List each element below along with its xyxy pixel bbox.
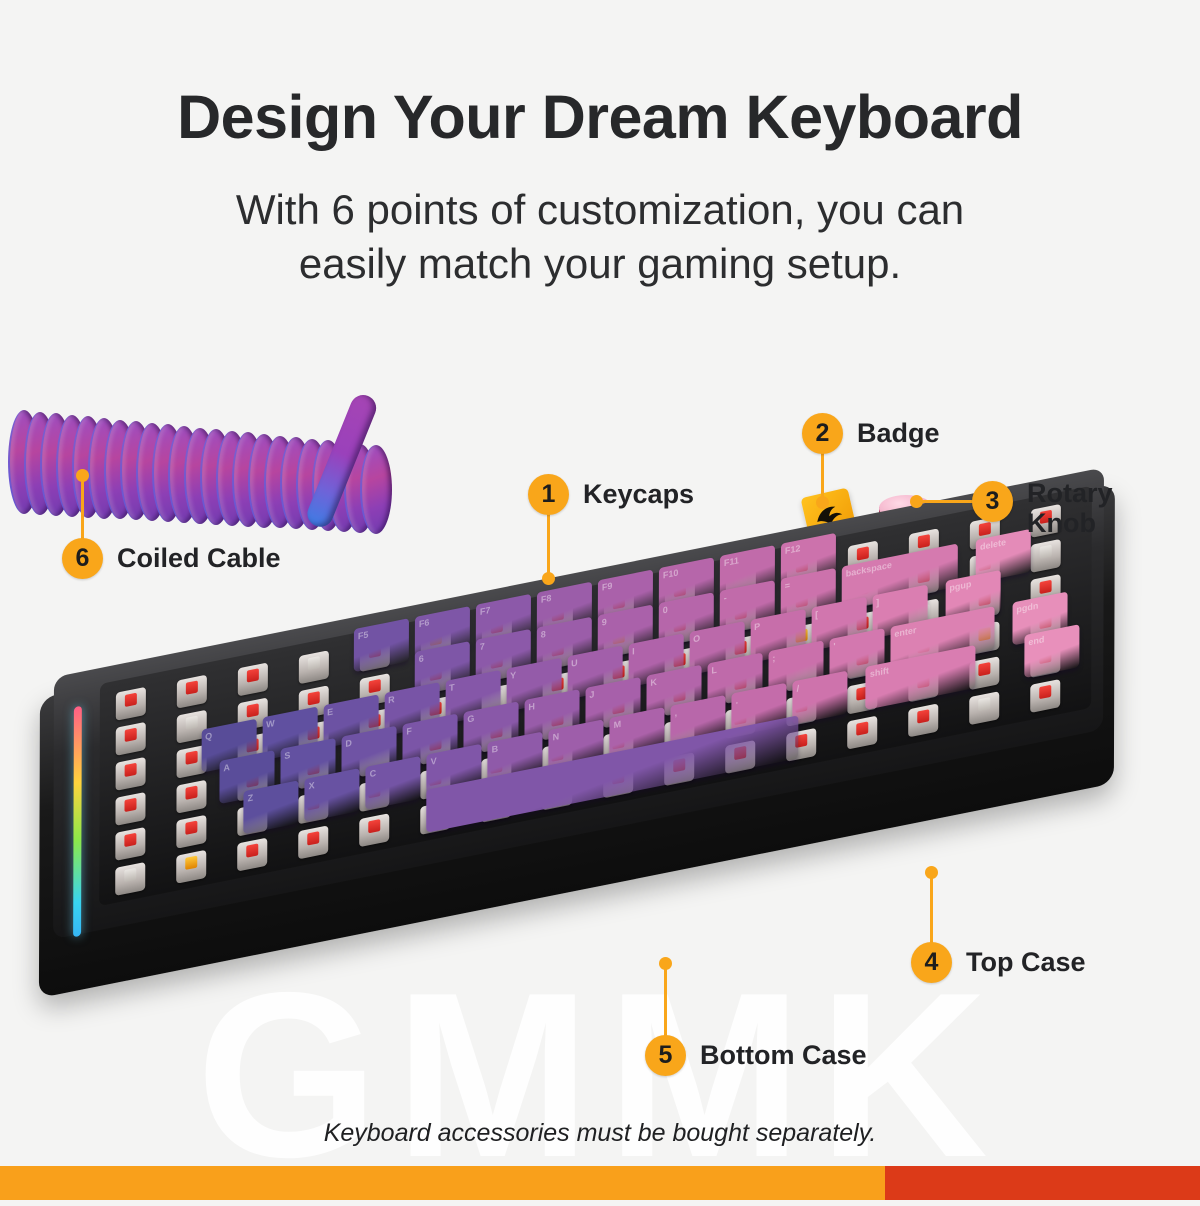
callout-2[interactable]: 2 Badge [802, 413, 940, 454]
subtitle-line-2: easily match your gaming setup. [0, 237, 1200, 291]
callout-3-leader [916, 500, 976, 503]
rgb-side-strip [73, 706, 82, 938]
mechanical-switch [969, 691, 999, 725]
callout-5-leader [664, 962, 667, 1038]
callout-1-leader [547, 513, 550, 578]
callout-6-leader [81, 474, 84, 540]
mechanical-switch [176, 815, 206, 849]
mechanical-switch [115, 862, 145, 896]
callout-2-anchor [816, 496, 829, 509]
callout-4-badge[interactable]: 4 [911, 942, 952, 983]
callout-5-label: Bottom Case [700, 1040, 867, 1070]
mechanical-switch [116, 687, 146, 721]
callout-4-anchor [925, 866, 938, 879]
callout-3-label: Rotary Knob [1027, 478, 1113, 538]
mechanical-switch [115, 827, 145, 861]
mechanical-switch [116, 722, 146, 756]
mechanical-switch [238, 662, 268, 696]
callout-3-anchor [910, 495, 923, 508]
callout-2-label: Badge [857, 418, 940, 448]
callout-2-leader [821, 452, 824, 502]
mechanical-switch [177, 675, 207, 709]
callout-5[interactable]: 5 Bottom Case [645, 1035, 867, 1076]
callout-4-label: Top Case [966, 947, 1086, 977]
callout-4-leader [930, 872, 933, 944]
callout-6[interactable]: 6 Coiled Cable [62, 538, 281, 579]
cable-coil-turn [360, 445, 392, 534]
footer-bar-orange [0, 1166, 885, 1200]
subtitle-line-1: With 6 points of customization, you can [0, 183, 1200, 237]
mechanical-switch [298, 825, 328, 859]
mechanical-switch [116, 757, 146, 791]
mechanical-switch [847, 716, 877, 750]
callout-2-badge[interactable]: 2 [802, 413, 843, 454]
callout-1-label: Keycaps [583, 479, 694, 509]
infographic-canvas: GMMK Design Your Dream Keyboard With 6 p… [0, 0, 1200, 1200]
callout-1[interactable]: 1 Keycaps [528, 474, 694, 515]
callout-1-badge[interactable]: 1 [528, 474, 569, 515]
footer-bar [0, 1166, 1200, 1200]
mechanical-switch [115, 792, 145, 826]
callout-6-anchor [76, 469, 89, 482]
page-title: Design Your Dream Keyboard [0, 82, 1200, 152]
mechanical-switch [908, 703, 938, 737]
callout-3[interactable]: 3 Rotary Knob [972, 481, 1113, 538]
mechanical-switch [237, 838, 267, 872]
callout-6-badge[interactable]: 6 [62, 538, 103, 579]
mechanical-switch [1031, 539, 1061, 573]
mechanical-switch [1030, 679, 1060, 713]
mechanical-switch [359, 813, 389, 847]
mechanical-switch [176, 780, 206, 814]
mechanical-switch [299, 650, 329, 684]
callout-4[interactable]: 4 Top Case [911, 942, 1086, 983]
callout-3-badge[interactable]: 3 [972, 481, 1013, 522]
keycap: F5 [354, 618, 409, 672]
callout-6-label: Coiled Cable [117, 543, 281, 573]
callout-5-anchor [659, 957, 672, 970]
mechanical-switch [176, 850, 206, 884]
callout-1-anchor [542, 572, 555, 585]
callout-5-badge[interactable]: 5 [645, 1035, 686, 1076]
page-subtitle: With 6 points of customization, you can … [0, 183, 1200, 291]
disclaimer-text: Keyboard accessories must be bought sepa… [0, 1119, 1200, 1148]
footer-bar-red [885, 1166, 1200, 1200]
